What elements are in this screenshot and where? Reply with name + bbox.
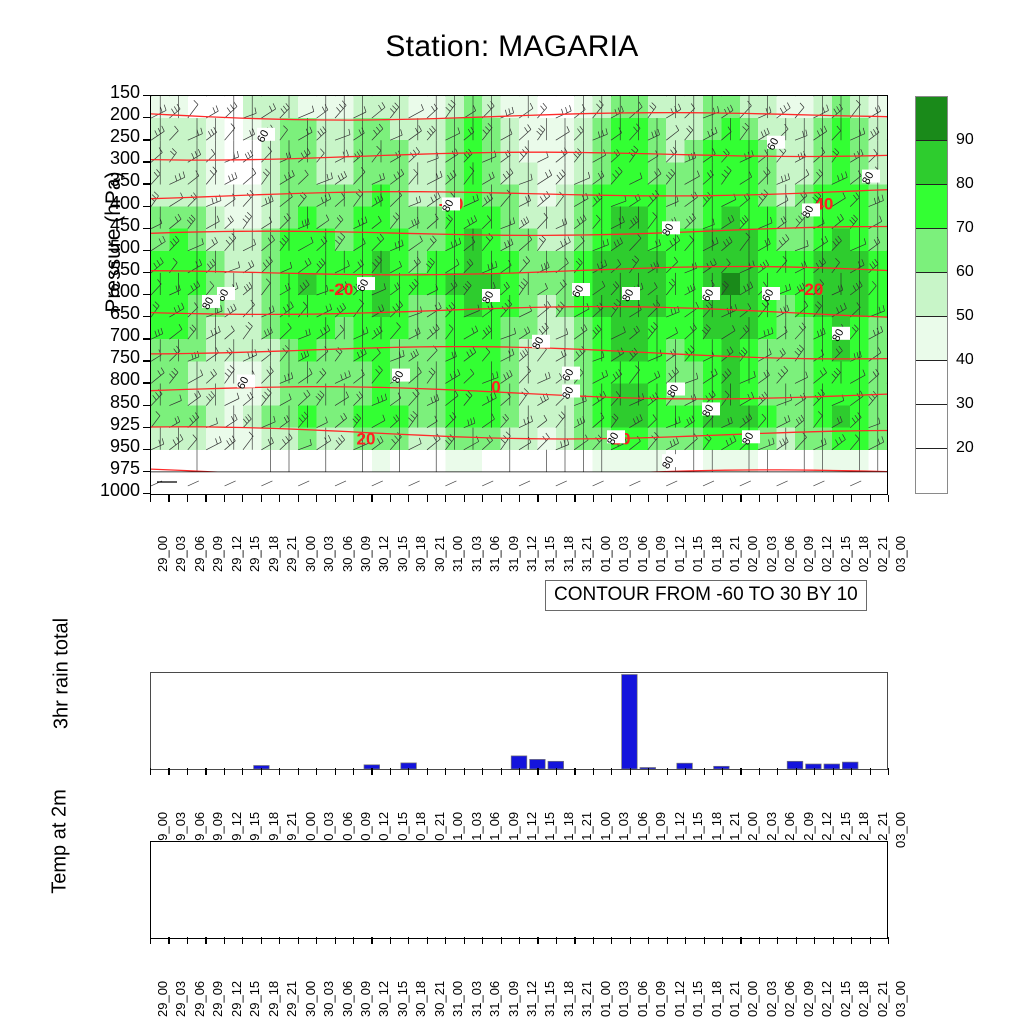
x-axis-label: 01_21 — [727, 981, 742, 1017]
main-ytick-mark — [143, 316, 150, 317]
x-tick — [519, 937, 520, 944]
x-tick — [704, 495, 705, 502]
colorbar-band-7[interactable] — [916, 405, 947, 449]
x-tick — [833, 937, 834, 944]
colorbar-label-80: 80 — [956, 175, 974, 193]
x-tick — [187, 495, 188, 502]
main-ytick-650: 650 — [94, 307, 140, 319]
x-tick — [353, 495, 354, 502]
x-axis-label: 30_18 — [413, 981, 428, 1017]
x-tick — [205, 937, 206, 944]
rain-chart[interactable] — [150, 672, 888, 770]
x-tick — [205, 495, 206, 502]
x-tick — [168, 495, 169, 502]
x-tick — [574, 768, 575, 775]
x-axis-label: 31_21 — [579, 981, 594, 1017]
x-axis-label: 30_21 — [432, 981, 447, 1017]
x-tick — [168, 937, 169, 944]
x-tick — [371, 495, 372, 502]
x-tick — [759, 495, 760, 502]
x-axis-label: 03_00 — [893, 981, 908, 1017]
colorbar-label-90: 90 — [956, 131, 974, 149]
x-tick — [685, 495, 686, 502]
x-tick — [777, 495, 778, 502]
x-axis-label: 01_09 — [653, 536, 668, 572]
x-tick — [870, 937, 871, 944]
x-tick — [298, 495, 299, 502]
x-axis-label: 02_21 — [875, 536, 890, 572]
x-axis-label: 29_09 — [210, 536, 225, 572]
x-tick — [150, 768, 151, 775]
colorbar-label-30: 30 — [956, 395, 974, 413]
humidity-colorbar[interactable] — [915, 96, 948, 494]
x-axis-label: 31_15 — [542, 981, 557, 1017]
x-tick — [224, 768, 225, 775]
time-height-cross-section[interactable]: -40-40-20-200202060806080606080806080606… — [150, 95, 888, 495]
svg-text:0: 0 — [491, 378, 500, 397]
main-ytick-mark — [143, 294, 150, 295]
colorbar-label-60: 60 — [956, 263, 974, 281]
x-axis-label: 01_00 — [598, 536, 613, 572]
x-axis-label: 02_06 — [782, 536, 797, 572]
x-tick — [630, 495, 631, 502]
x-axis-label: 02_03 — [764, 981, 779, 1017]
x-axis-label: 30_21 — [432, 536, 447, 572]
main-ytick-mark — [143, 338, 150, 339]
x-tick — [556, 768, 557, 775]
main-ytick-925: 925 — [94, 418, 140, 430]
main-ytick-mark — [143, 206, 150, 207]
x-tick — [611, 495, 612, 502]
x-tick — [740, 937, 741, 944]
x-axis-label: 30_12 — [376, 536, 391, 572]
x-tick — [833, 495, 834, 502]
x-axis-label: 29_15 — [247, 981, 262, 1017]
rain-plot-svg — [151, 673, 887, 769]
x-axis-label: 31_03 — [469, 536, 484, 572]
x-tick — [427, 495, 428, 502]
x-tick — [704, 768, 705, 775]
x-axis-label: 01_18 — [709, 536, 724, 572]
x-tick — [537, 768, 538, 775]
colorbar-band-6[interactable] — [916, 361, 947, 405]
x-tick — [390, 937, 391, 944]
x-tick — [316, 937, 317, 944]
main-ytick-150: 150 — [94, 86, 140, 98]
main-ytick-750: 750 — [94, 351, 140, 363]
x-axis-label: 29_00 — [155, 536, 170, 572]
main-ytick-mark — [143, 228, 150, 229]
main-ytick-600: 600 — [94, 285, 140, 297]
x-tick — [593, 768, 594, 775]
x-tick — [851, 937, 852, 944]
x-axis-label: 02_15 — [838, 981, 853, 1017]
x-tick — [537, 937, 538, 944]
x-tick — [851, 768, 852, 775]
x-axis-label: 30_18 — [413, 536, 428, 572]
contour-legend: CONTOUR FROM -60 TO 30 BY 10 — [545, 580, 867, 611]
x-tick — [814, 768, 815, 775]
x-tick — [224, 495, 225, 502]
x-tick — [427, 768, 428, 775]
x-tick — [242, 937, 243, 944]
svg-text:-20: -20 — [799, 280, 824, 299]
x-tick — [390, 495, 391, 502]
x-axis-label: 31_18 — [561, 536, 576, 572]
x-axis-label: 31_00 — [450, 536, 465, 572]
x-axis-label: 31_15 — [542, 536, 557, 572]
x-tick — [501, 768, 502, 775]
x-tick — [796, 495, 797, 502]
main-ytick-975: 975 — [94, 462, 140, 474]
main-ytick-400: 400 — [94, 197, 140, 209]
temperature-chart[interactable] — [150, 841, 888, 939]
main-ytick-300: 300 — [94, 152, 140, 164]
x-tick — [335, 768, 336, 775]
x-axis-label: 03_00 — [893, 536, 908, 572]
x-tick — [704, 937, 705, 944]
x-tick — [611, 937, 612, 944]
x-tick — [482, 495, 483, 502]
x-tick — [408, 768, 409, 775]
x-axis-label: 29_03 — [173, 536, 188, 572]
x-axis-label: 30_03 — [321, 981, 336, 1017]
x-tick — [814, 495, 815, 502]
x-axis-label: 03_00 — [893, 812, 908, 848]
x-tick — [648, 768, 649, 775]
x-axis-label: 30_06 — [340, 981, 355, 1017]
x-axis-label: 29_06 — [192, 536, 207, 572]
x-axis-label: 01_06 — [635, 981, 650, 1017]
x-axis-label: 02_00 — [745, 981, 760, 1017]
x-tick — [187, 768, 188, 775]
x-tick — [371, 768, 372, 775]
x-axis-label: 30_15 — [395, 536, 410, 572]
x-tick — [870, 495, 871, 502]
main-ytick-mark — [143, 427, 150, 428]
x-tick — [242, 495, 243, 502]
x-tick — [519, 768, 520, 775]
main-plot-svg: -40-40-20-200202060806080606080806080606… — [151, 96, 887, 494]
x-tick — [279, 937, 280, 944]
main-ytick-mark — [143, 449, 150, 450]
x-tick — [888, 768, 889, 775]
x-tick — [611, 768, 612, 775]
x-axis-label: 29_21 — [284, 981, 299, 1017]
page-title: Station: MAGARIA — [0, 30, 1024, 64]
x-axis-label: 30_09 — [358, 536, 373, 572]
x-tick — [150, 937, 151, 944]
x-axis-label: 01_21 — [727, 536, 742, 572]
x-tick — [464, 937, 465, 944]
main-ytick-mark — [143, 95, 150, 96]
x-tick — [501, 495, 502, 502]
colorbar-band-4[interactable] — [916, 273, 947, 317]
x-axis-label: 31_06 — [487, 981, 502, 1017]
x-axis-label: 29_03 — [173, 981, 188, 1017]
svg-text:-20: -20 — [329, 280, 354, 299]
colorbar-band-8[interactable] — [916, 449, 947, 493]
x-axis-label: 01_12 — [672, 536, 687, 572]
main-ytick-500: 500 — [94, 241, 140, 253]
x-tick — [685, 768, 686, 775]
main-ytick-700: 700 — [94, 329, 140, 341]
x-axis-label: 02_09 — [801, 536, 816, 572]
x-axis-label: 01_18 — [709, 981, 724, 1017]
x-tick — [519, 495, 520, 502]
x-tick — [556, 937, 557, 944]
x-tick — [261, 768, 262, 775]
x-tick — [648, 495, 649, 502]
x-tick — [205, 768, 206, 775]
x-tick — [335, 495, 336, 502]
x-tick — [445, 937, 446, 944]
x-axis-label: 29_18 — [266, 536, 281, 572]
x-tick — [445, 495, 446, 502]
main-ytick-mark — [143, 382, 150, 383]
x-tick — [722, 768, 723, 775]
x-tick — [759, 937, 760, 944]
x-tick — [224, 937, 225, 944]
x-tick — [630, 768, 631, 775]
main-ytick-mark — [143, 139, 150, 140]
svg-text:20: 20 — [357, 429, 376, 448]
main-ytick-800: 800 — [94, 373, 140, 385]
x-axis-label: 29_12 — [229, 536, 244, 572]
x-tick — [316, 495, 317, 502]
x-tick — [796, 768, 797, 775]
x-axis-label: 31_12 — [524, 536, 539, 572]
x-axis-label: 30_09 — [358, 981, 373, 1017]
x-axis-label: 02_12 — [819, 981, 834, 1017]
x-tick — [556, 495, 557, 502]
x-tick — [371, 937, 372, 944]
x-axis-label: 31_00 — [450, 981, 465, 1017]
x-tick — [445, 768, 446, 775]
x-tick — [593, 495, 594, 502]
x-axis-label: 31_09 — [506, 981, 521, 1017]
x-tick — [537, 495, 538, 502]
x-axis-label: 02_18 — [856, 536, 871, 572]
x-tick — [279, 768, 280, 775]
main-ytick-mark — [143, 405, 150, 406]
main-ytick-250: 250 — [94, 130, 140, 142]
x-axis-label: 30_06 — [340, 536, 355, 572]
x-tick — [722, 937, 723, 944]
x-axis-label: 30_03 — [321, 536, 336, 572]
main-ytick-450: 450 — [94, 219, 140, 231]
x-tick — [667, 495, 668, 502]
x-tick — [851, 495, 852, 502]
x-tick — [168, 768, 169, 775]
x-axis-label: 01_03 — [616, 536, 631, 572]
x-axis-label: 29_12 — [229, 981, 244, 1017]
colorbar-band-1[interactable] — [916, 141, 947, 185]
x-tick — [722, 495, 723, 502]
main-ytick-350: 350 — [94, 174, 140, 186]
x-tick — [298, 768, 299, 775]
main-ytick-mark — [143, 272, 150, 273]
x-tick — [648, 937, 649, 944]
x-tick — [353, 768, 354, 775]
x-axis-label: 02_21 — [875, 981, 890, 1017]
main-ytick-mark — [143, 360, 150, 361]
x-axis-label: 29_18 — [266, 981, 281, 1017]
x-tick — [261, 937, 262, 944]
x-axis-label: 30_15 — [395, 981, 410, 1017]
x-axis-label: 31_21 — [579, 536, 594, 572]
main-ytick-1000: 1000 — [94, 484, 140, 496]
main-ytick-mark — [143, 183, 150, 184]
temp-plot-svg — [151, 842, 887, 938]
x-axis-label: 31_12 — [524, 981, 539, 1017]
temp-ylabel: Temp at 2m — [49, 762, 72, 922]
x-tick — [574, 937, 575, 944]
x-tick — [464, 768, 465, 775]
x-tick — [888, 495, 889, 502]
x-tick — [408, 495, 409, 502]
x-tick — [353, 937, 354, 944]
main-ytick-mark — [143, 471, 150, 472]
x-axis-label: 29_15 — [247, 536, 262, 572]
x-tick — [482, 768, 483, 775]
x-tick — [777, 768, 778, 775]
x-axis-label: 02_18 — [856, 981, 871, 1017]
colorbar-label-20: 20 — [956, 439, 974, 457]
x-tick — [501, 937, 502, 944]
main-ytick-mark — [143, 117, 150, 118]
rain-ylabel: 3hr rain total — [51, 594, 74, 754]
x-tick — [408, 937, 409, 944]
main-ytick-mark — [143, 250, 150, 251]
x-axis-label: 29_09 — [210, 981, 225, 1017]
x-axis-label: 30_00 — [303, 536, 318, 572]
colorbar-label-50: 50 — [956, 307, 974, 325]
x-tick — [833, 768, 834, 775]
x-tick — [187, 937, 188, 944]
main-ytick-850: 850 — [94, 396, 140, 408]
x-axis-label: 31_03 — [469, 981, 484, 1017]
main-ytick-200: 200 — [94, 108, 140, 120]
x-tick — [740, 495, 741, 502]
x-axis-label: 02_12 — [819, 536, 834, 572]
x-axis-label: 01_15 — [690, 536, 705, 572]
main-ytick-550: 550 — [94, 263, 140, 275]
colorbar-label-40: 40 — [956, 351, 974, 369]
x-axis-label: 31_18 — [561, 981, 576, 1017]
x-tick — [482, 937, 483, 944]
x-axis-label: 01_09 — [653, 981, 668, 1017]
colorbar-band-3[interactable] — [916, 229, 947, 273]
x-tick — [316, 768, 317, 775]
x-tick — [740, 768, 741, 775]
x-tick — [814, 937, 815, 944]
x-axis-label: 29_21 — [284, 536, 299, 572]
main-ytick-950: 950 — [94, 440, 140, 452]
x-tick — [777, 937, 778, 944]
x-tick — [630, 937, 631, 944]
x-axis-label: 01_00 — [598, 981, 613, 1017]
x-axis-label: 30_00 — [303, 981, 318, 1017]
x-axis-label: 02_03 — [764, 536, 779, 572]
colorbar-band-5[interactable] — [916, 317, 947, 361]
x-tick — [279, 495, 280, 502]
x-axis-label: 01_06 — [635, 536, 650, 572]
x-axis-label: 31_06 — [487, 536, 502, 572]
x-axis-label: 01_03 — [616, 981, 631, 1017]
x-tick — [242, 768, 243, 775]
x-tick — [667, 768, 668, 775]
x-axis-label: 29_06 — [192, 981, 207, 1017]
x-tick — [888, 937, 889, 944]
x-tick — [464, 495, 465, 502]
colorbar-band-0[interactable] — [916, 97, 947, 141]
x-tick — [593, 937, 594, 944]
colorbar-band-2[interactable] — [916, 185, 947, 229]
x-tick — [390, 768, 391, 775]
x-axis-label: 02_00 — [745, 536, 760, 572]
main-ytick-mark — [143, 493, 150, 494]
x-tick — [685, 937, 686, 944]
x-tick — [261, 495, 262, 502]
x-axis-label: 02_06 — [782, 981, 797, 1017]
x-tick — [574, 495, 575, 502]
x-tick — [298, 937, 299, 944]
x-tick — [667, 937, 668, 944]
x-axis-label: 02_15 — [838, 536, 853, 572]
x-axis-label: 02_09 — [801, 981, 816, 1017]
colorbar-label-70: 70 — [956, 219, 974, 237]
x-axis-label: 31_09 — [506, 536, 521, 572]
x-tick — [150, 495, 151, 502]
x-tick — [759, 768, 760, 775]
x-axis-label: 30_12 — [376, 981, 391, 1017]
x-axis-label: 29_00 — [155, 981, 170, 1017]
x-tick — [335, 937, 336, 944]
x-tick — [427, 937, 428, 944]
x-axis-label: 01_15 — [690, 981, 705, 1017]
main-ytick-mark — [143, 161, 150, 162]
x-tick — [870, 768, 871, 775]
x-tick — [796, 937, 797, 944]
x-axis-label: 01_12 — [672, 981, 687, 1017]
